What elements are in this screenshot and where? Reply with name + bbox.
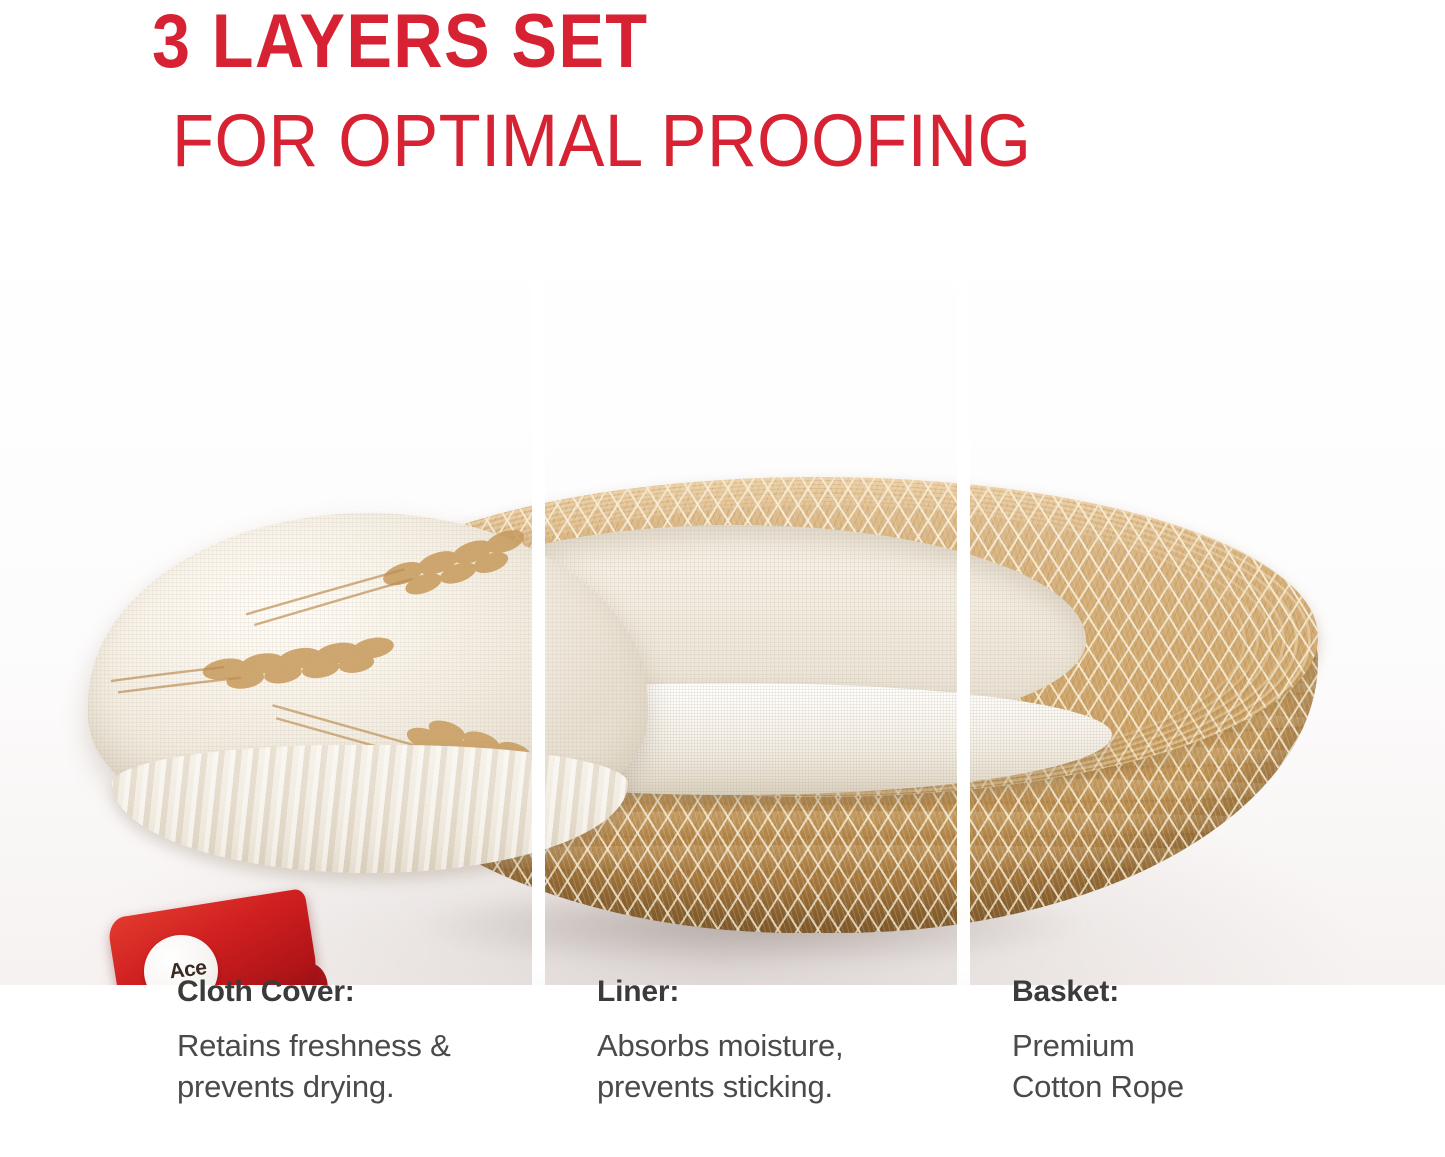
caption-title: Basket: bbox=[1012, 975, 1402, 1009]
caption-line: Absorbs moisture, bbox=[597, 1025, 987, 1066]
cover-elastic-skirt bbox=[112, 745, 628, 873]
caption-line: prevents drying. bbox=[177, 1066, 567, 1107]
brand-tag: Ace bbox=[108, 897, 326, 985]
caption-line: Retains freshness & bbox=[177, 1025, 567, 1066]
cloth-cover bbox=[88, 513, 648, 843]
headline-secondary: FOR OPTIMAL PROOFING bbox=[172, 104, 1031, 178]
cover-skirt-gathers bbox=[112, 745, 628, 873]
caption-cloth-cover: Cloth Cover: Retains freshness & prevent… bbox=[177, 975, 567, 1107]
caption-liner: Liner: Absorbs moisture, prevents sticki… bbox=[597, 975, 987, 1107]
basket-illustration: Ace bbox=[0, 225, 1445, 985]
captions-row: Cloth Cover: Retains freshness & prevent… bbox=[0, 975, 1445, 1157]
headline-block: 3 LAYERS SET FOR OPTIMAL PROOFING bbox=[0, 0, 1445, 230]
caption-line: Premium bbox=[1012, 1025, 1402, 1066]
caption-line: Cotton Rope bbox=[1012, 1066, 1402, 1107]
caption-title: Liner: bbox=[597, 975, 987, 1009]
product-photo: Ace bbox=[0, 225, 1445, 985]
caption-line: prevents sticking. bbox=[597, 1066, 987, 1107]
caption-title: Cloth Cover: bbox=[177, 975, 567, 1009]
headline-primary: 3 LAYERS SET bbox=[152, 4, 648, 80]
caption-basket: Basket: Premium Cotton Rope bbox=[1012, 975, 1402, 1107]
